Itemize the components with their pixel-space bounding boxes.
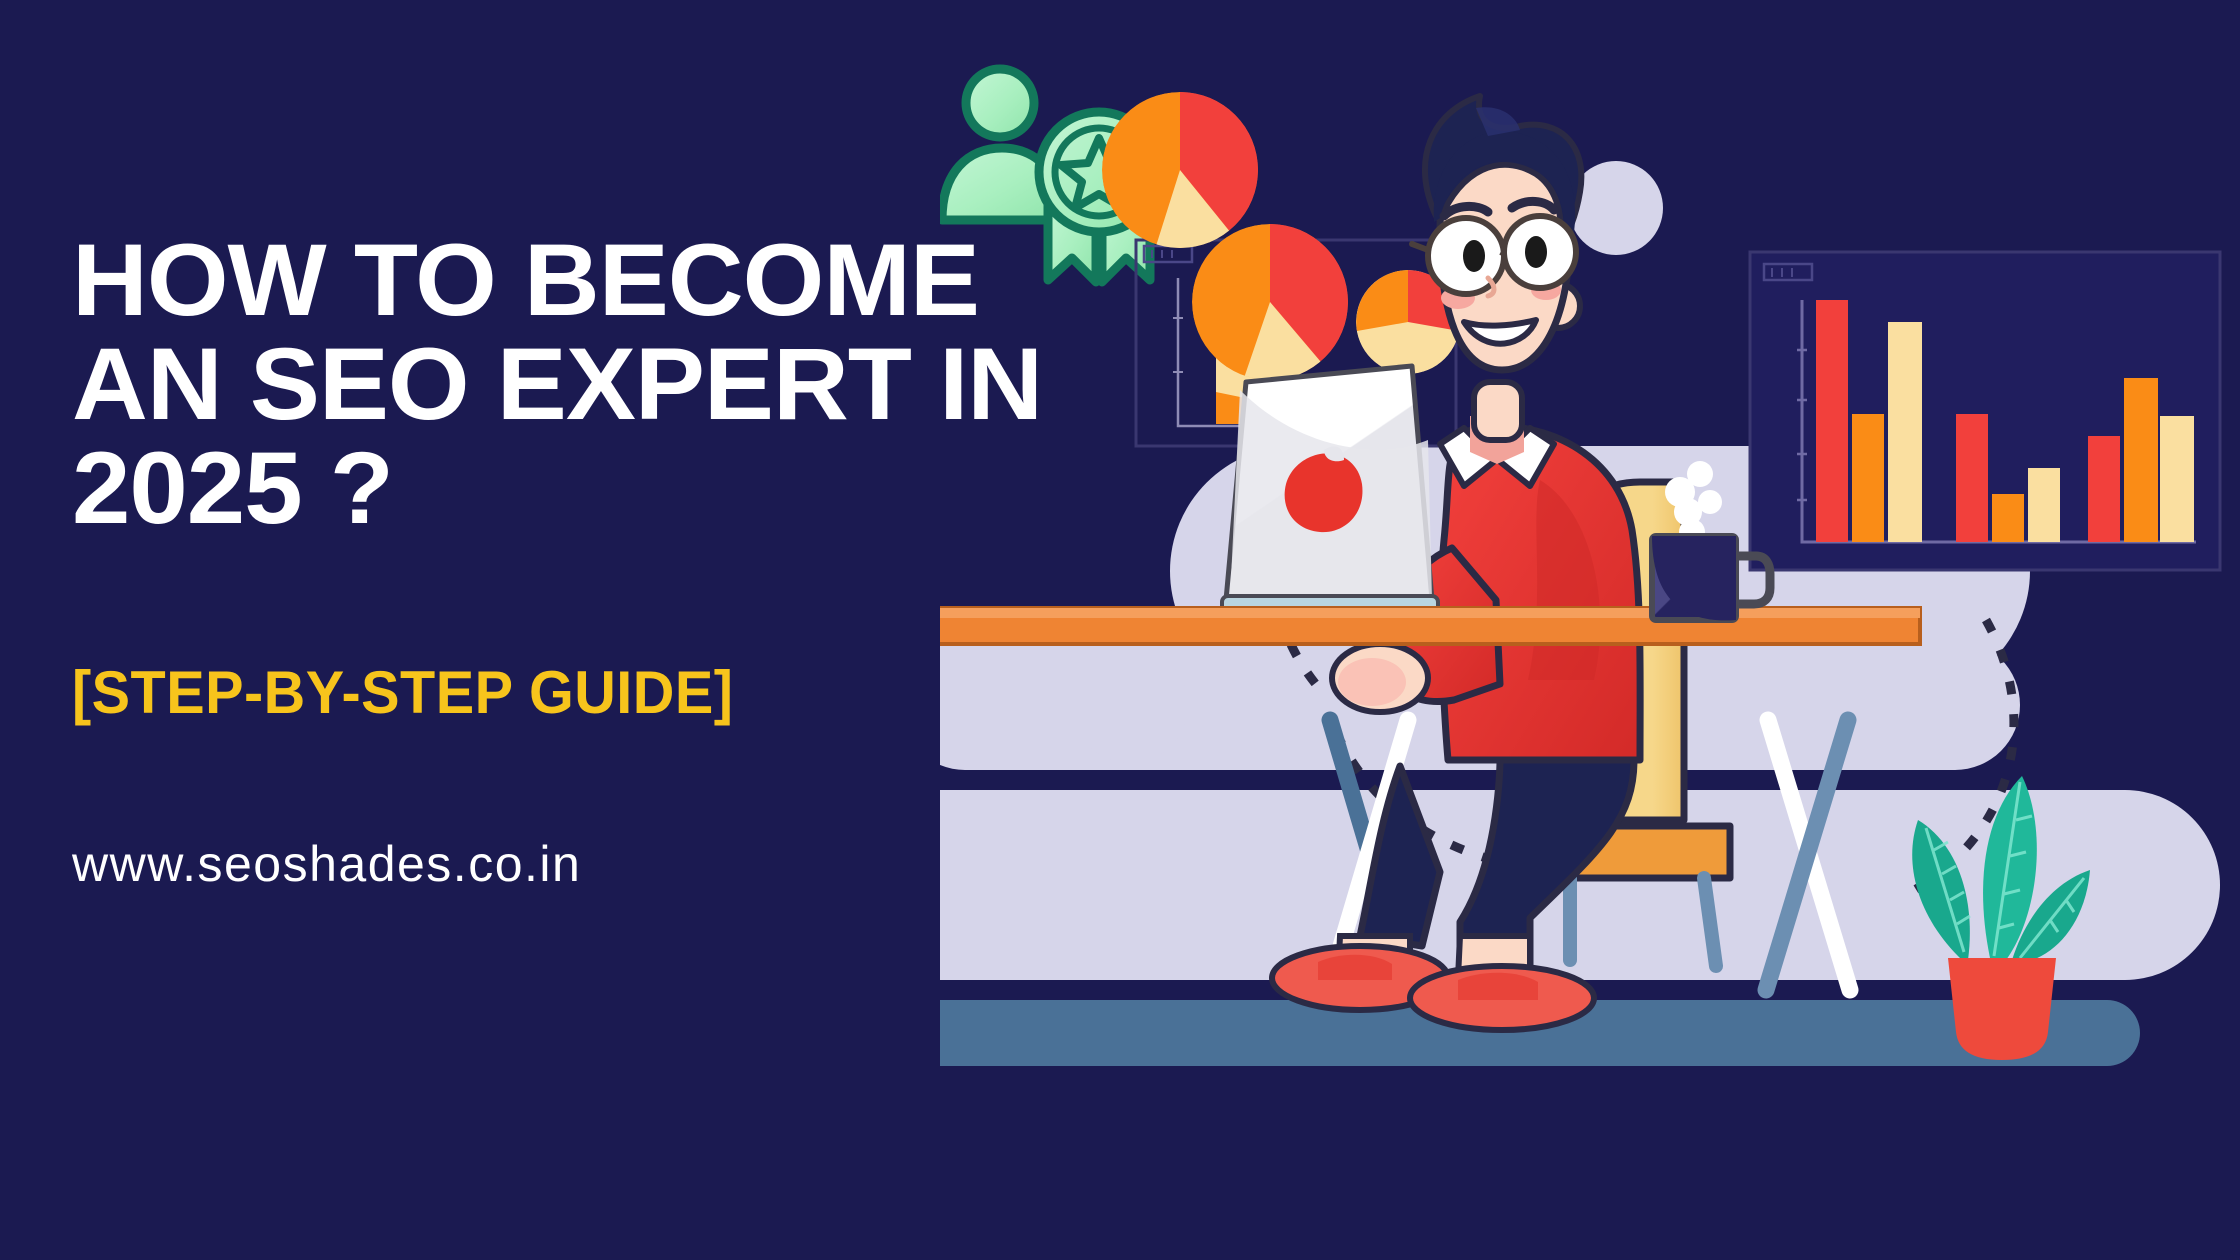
- desk-top: [940, 608, 1920, 644]
- laptop: [1222, 366, 1438, 614]
- person-head: [1412, 96, 1581, 440]
- bar-chart-window: [1750, 252, 2220, 570]
- banner-root: HOW TO BECOME AN SEO EXPERT IN 2025 ? [S…: [0, 0, 2240, 1260]
- subtitle-badge: [STEP-BY-STEP GUIDE]: [72, 658, 1070, 727]
- hero-illustration: [940, 60, 2240, 1120]
